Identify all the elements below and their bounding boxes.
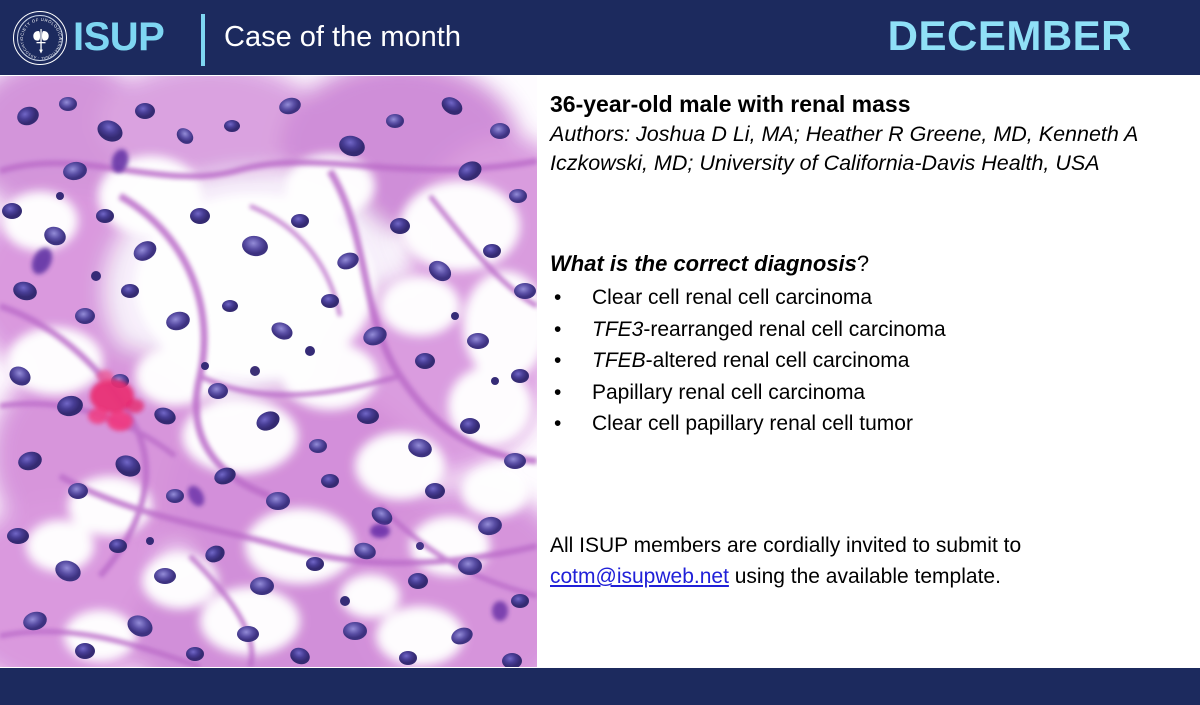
header-divider [201, 14, 205, 66]
bullet-icon: • [554, 377, 561, 409]
month-label: DECEMBER [888, 10, 1132, 62]
histology-micrograph [0, 76, 537, 667]
option-label: -rearranged renal cell carcinoma [643, 318, 945, 341]
list-item[interactable]: •TFEB-altered renal cell carcinoma [550, 345, 1195, 377]
option-label: Papillary renal cell carcinoma [592, 381, 865, 404]
invite-line-2: using the available template. [729, 565, 1001, 588]
option-italic-term: TFEB [592, 349, 646, 372]
bullet-icon: • [554, 345, 561, 377]
bullet-icon: • [554, 282, 561, 314]
question-mark: ? [857, 251, 869, 276]
slide-root: SOCIETY OF UROLOGICAL INTERNATIONAL · AS… [0, 0, 1200, 705]
option-label: Clear cell papillary renal cell tumor [592, 412, 913, 435]
brand-isup: ISUP [73, 13, 164, 61]
list-item[interactable]: •Papillary renal cell carcinoma [550, 377, 1195, 409]
list-item[interactable]: •TFE3-rearranged renal cell carcinoma [550, 314, 1195, 346]
option-label: Clear cell renal cell carcinoma [592, 286, 872, 309]
footer-bar [0, 668, 1200, 705]
submission-email-link[interactable]: cotm@isupweb.net [550, 565, 729, 588]
option-italic-term: TFE3 [592, 318, 643, 341]
list-item[interactable]: •Clear cell renal cell carcinoma [550, 282, 1195, 314]
diagnosis-options-list: •Clear cell renal cell carcinoma •TFE3-r… [550, 282, 1195, 440]
case-text-panel: 36-year-old male with renal mass Authors… [548, 76, 1200, 667]
header-bar: SOCIETY OF UROLOGICAL INTERNATIONAL · AS… [0, 0, 1200, 75]
submission-invite: All ISUP members are cordially invited t… [550, 530, 1195, 592]
bullet-icon: • [554, 314, 561, 346]
list-item[interactable]: •Clear cell papillary renal cell tumor [550, 408, 1195, 440]
page-title: 36-year-old male with renal mass [550, 89, 1195, 119]
header-subtitle: Case of the month [224, 18, 461, 56]
question-heading: What is the correct diagnosis? [550, 249, 869, 279]
authors-line: Authors: Joshua D Li, MA; Heather R Gree… [550, 120, 1198, 178]
bullet-icon: • [554, 408, 561, 440]
option-label: -altered renal cell carcinoma [646, 349, 910, 372]
question-text: What is the correct diagnosis [550, 251, 857, 276]
invite-line-1: All ISUP members are cordially invited t… [550, 534, 1021, 557]
isup-seal-icon: SOCIETY OF UROLOGICAL INTERNATIONAL · AS… [13, 11, 67, 65]
